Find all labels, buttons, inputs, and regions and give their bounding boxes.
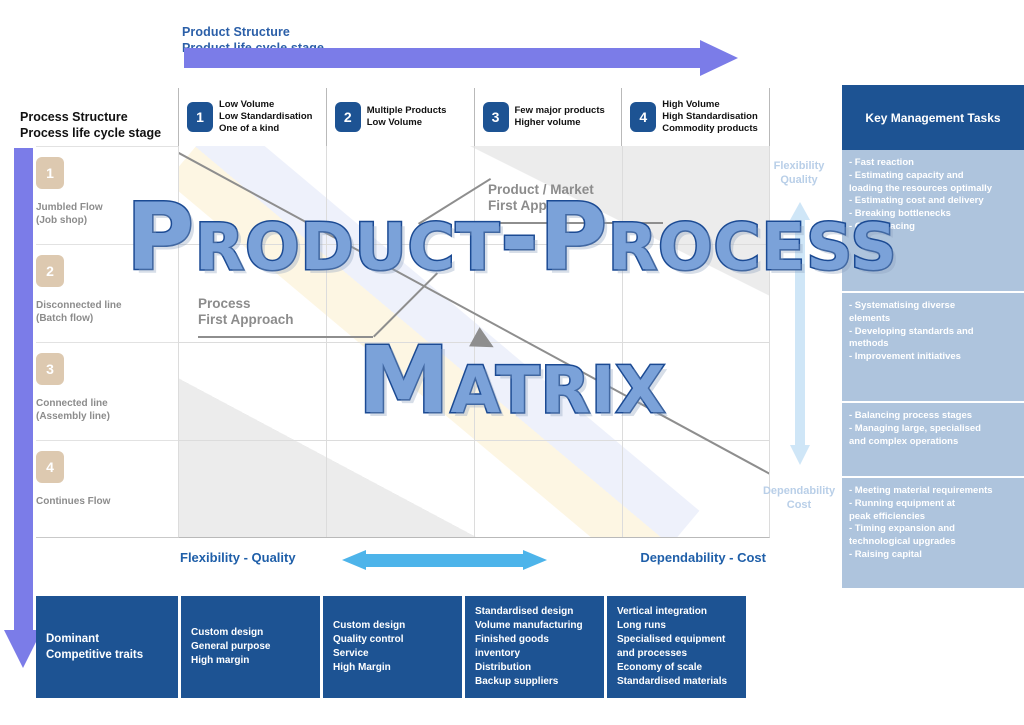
callout-product-market-anchor-dot — [364, 242, 370, 248]
bottom-axis-left-label: Flexibility - Quality — [180, 550, 296, 565]
row-badge-1: 1 — [36, 157, 64, 189]
column-badge-4: 4 — [630, 102, 656, 132]
bottom-axis-arrow-left-icon — [342, 550, 366, 570]
right-axis-arrow-bar — [795, 218, 805, 448]
bottom-horizontal-axis: Flexibility - Quality Dependability - Co… — [170, 540, 770, 580]
row-label-2: 2 Disconnected line (Batch flow) — [36, 244, 178, 342]
row-badge-2: 2 — [36, 255, 64, 287]
row-label-column: 1 Jumbled Flow (Job shop) 2 Disconnected… — [36, 146, 178, 538]
dominant-competitive-traits-row: Dominant Competitive traits Custom desig… — [36, 596, 746, 698]
traits-cell-1-text: Custom design General purpose High margi… — [191, 626, 270, 668]
key-management-tasks-block-2: - Systematising diverse elements - Devel… — [842, 293, 1024, 403]
bottom-axis-arrow-bar — [365, 554, 525, 567]
callout-process-underline — [198, 336, 373, 338]
callout-process: Process First Approach — [198, 296, 294, 328]
row-label-3: 3 Connected line (Assembly line) — [36, 342, 178, 440]
row-text-4: Continues Flow — [36, 495, 178, 508]
right-axis-bottom-label: Dependability Cost — [760, 485, 838, 513]
key-management-tasks-panel: Key Management Tasks - Fast reaction - E… — [842, 85, 1024, 545]
column-badge-2: 2 — [335, 102, 361, 132]
process-structure-title-line2: Process life cycle stage — [20, 126, 190, 142]
key-management-tasks-header: Key Management Tasks — [842, 85, 1024, 150]
column-header-1: 1 Low Volume Low Standardisation One of … — [178, 88, 326, 146]
column-label-4: High Volume High Standardisation Commodi… — [662, 99, 758, 135]
row-badge-4: 4 — [36, 451, 64, 483]
matrix-plot-area: Product / Market First Approach Process … — [178, 146, 770, 538]
column-badge-1: 1 — [187, 102, 213, 132]
traits-cell-4-text: Vertical integration Long runs Specialis… — [617, 605, 727, 689]
right-vertical-axis: Flexibility Quality Dependability Cost — [760, 160, 838, 520]
column-label-2: Multiple Products Low Volume — [367, 105, 447, 129]
product-structure-title-line1: Product Structure — [182, 25, 512, 41]
row-text-1: Jumbled Flow (Job shop) — [36, 201, 178, 227]
callout-product-market-underline — [488, 222, 663, 224]
traits-cell-3-text: Standardised design Volume manufacturing… — [475, 605, 594, 689]
process-structure-title-line1: Process Structure — [20, 110, 190, 126]
top-axis-arrow-bar — [184, 48, 704, 68]
key-management-tasks-block-4: - Meeting material requirements - Runnin… — [842, 478, 1024, 588]
traits-cell-2: Custom design Quality control Service Hi… — [323, 596, 462, 698]
column-label-1: Low Volume Low Standardisation One of a … — [219, 99, 312, 135]
column-badge-3: 3 — [483, 102, 509, 132]
column-header-row: 1 Low Volume Low Standardisation One of … — [178, 88, 770, 146]
row-text-2: Disconnected line (Batch flow) — [36, 299, 178, 325]
bottom-axis-right-label: Dependability - Cost — [640, 550, 766, 565]
row-label-1: 1 Jumbled Flow (Job shop) — [36, 146, 178, 244]
bottom-axis-arrow-right-icon — [523, 550, 547, 570]
process-structure-axis-title: Process Structure Process life cycle sta… — [20, 110, 190, 141]
top-axis-arrow-head-icon — [700, 40, 738, 76]
left-axis-arrow-bar — [14, 148, 33, 638]
column-header-3: 3 Few major products Higher volume — [474, 88, 622, 146]
row-text-3: Connected line (Assembly line) — [36, 397, 178, 423]
traits-cell-4: Vertical integration Long runs Specialis… — [607, 596, 746, 698]
key-management-tasks-block-3: - Balancing process stages - Managing la… — [842, 403, 1024, 478]
key-management-tasks-block-3-text: - Balancing process stages - Managing la… — [849, 410, 1016, 448]
traits-cell-3: Standardised design Volume manufacturing… — [465, 596, 604, 698]
column-header-2: 2 Multiple Products Low Volume — [326, 88, 474, 146]
row-label-4: 4 Continues Flow — [36, 440, 178, 538]
traits-cell-2-text: Custom design Quality control Service Hi… — [333, 619, 405, 675]
traits-title-text: Dominant Competitive traits — [46, 631, 143, 663]
traits-cell-1: Custom design General purpose High margi… — [181, 596, 320, 698]
key-management-tasks-block-4-text: - Meeting material requirements - Runnin… — [849, 485, 1016, 562]
key-management-tasks-block-2-text: - Systematising diverse elements - Devel… — [849, 300, 1016, 364]
traits-title-cell: Dominant Competitive traits — [36, 596, 178, 698]
key-management-tasks-block-1: - Fast reaction - Estimating capacity an… — [842, 150, 1024, 293]
column-label-3: Few major products Higher volume — [515, 105, 605, 129]
column-header-4: 4 High Volume High Standardisation Commo… — [621, 88, 770, 146]
key-management-tasks-block-1-text: - Fast reaction - Estimating capacity an… — [849, 157, 1016, 234]
right-axis-top-label: Flexibility Quality — [760, 160, 838, 188]
row-badge-3: 3 — [36, 353, 64, 385]
right-axis-arrow-down-icon — [790, 445, 810, 465]
callout-product-market: Product / Market First Approach — [488, 182, 594, 214]
product-process-matrix-diagram: Product Structure Product life cycle sta… — [0, 0, 1024, 725]
